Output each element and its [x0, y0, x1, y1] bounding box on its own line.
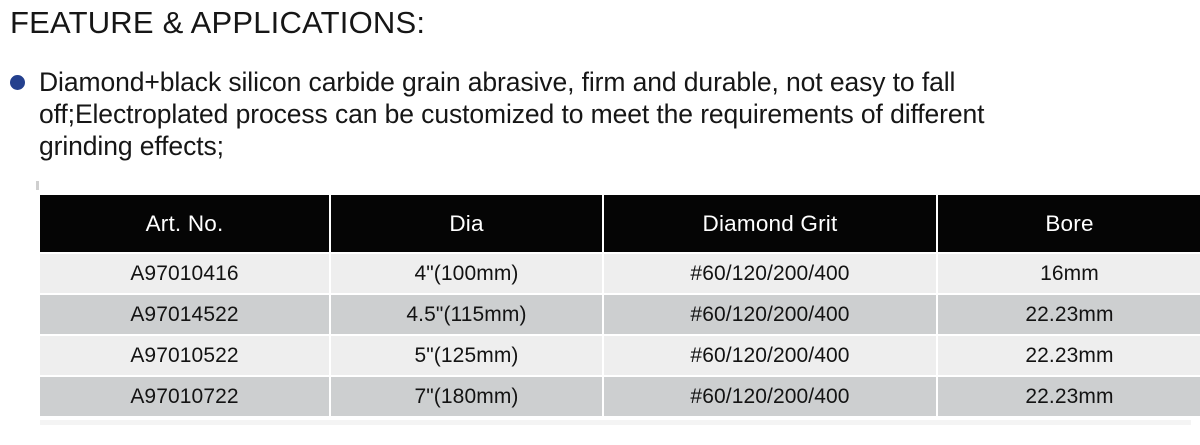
- feature-bullet-item: Diamond+black silicon carbide grain abra…: [10, 66, 1100, 162]
- product-spec-table: Art. No. Dia Diamond Grit Bore A97010416…: [38, 193, 1200, 418]
- table-row: A97010522 5"(125mm) #60/120/200/400 22.2…: [40, 336, 1200, 375]
- cell-grit: #60/120/200/400: [604, 254, 936, 293]
- feature-bullet-text: Diamond+black silicon carbide grain abra…: [39, 66, 1059, 162]
- table-row: A97014522 4.5"(115mm) #60/120/200/400 22…: [40, 295, 1200, 334]
- cell-art-no: A97014522: [40, 295, 329, 334]
- section-title: FEATURE & APPLICATIONS:: [10, 6, 425, 40]
- cell-art-no: A97010722: [40, 377, 329, 416]
- cell-dia: 4.5"(115mm): [331, 295, 602, 334]
- table-row: A97010416 4"(100mm) #60/120/200/400 16mm: [40, 254, 1200, 293]
- cell-dia: 5"(125mm): [331, 336, 602, 375]
- table-bottom-edge: [40, 420, 1191, 425]
- cell-art-no: A97010522: [40, 336, 329, 375]
- cell-bore: 16mm: [938, 254, 1200, 293]
- cell-grit: #60/120/200/400: [604, 295, 936, 334]
- cell-art-no: A97010416: [40, 254, 329, 293]
- cell-bore: 22.23mm: [938, 336, 1200, 375]
- column-header-diamond-grit: Diamond Grit: [604, 195, 936, 252]
- cell-dia: 4"(100mm): [331, 254, 602, 293]
- cell-bore: 22.23mm: [938, 377, 1200, 416]
- column-header-bore: Bore: [938, 195, 1200, 252]
- column-header-dia: Dia: [331, 195, 602, 252]
- cell-grit: #60/120/200/400: [604, 336, 936, 375]
- bullet-point-icon: [10, 75, 25, 90]
- cell-dia: 7"(180mm): [331, 377, 602, 416]
- cell-bore: 22.23mm: [938, 295, 1200, 334]
- scan-artifact-mark: [36, 181, 39, 190]
- cell-grit: #60/120/200/400: [604, 377, 936, 416]
- column-header-art-no: Art. No.: [40, 195, 329, 252]
- table-row: A97010722 7"(180mm) #60/120/200/400 22.2…: [40, 377, 1200, 416]
- table-header-row: Art. No. Dia Diamond Grit Bore: [40, 195, 1200, 252]
